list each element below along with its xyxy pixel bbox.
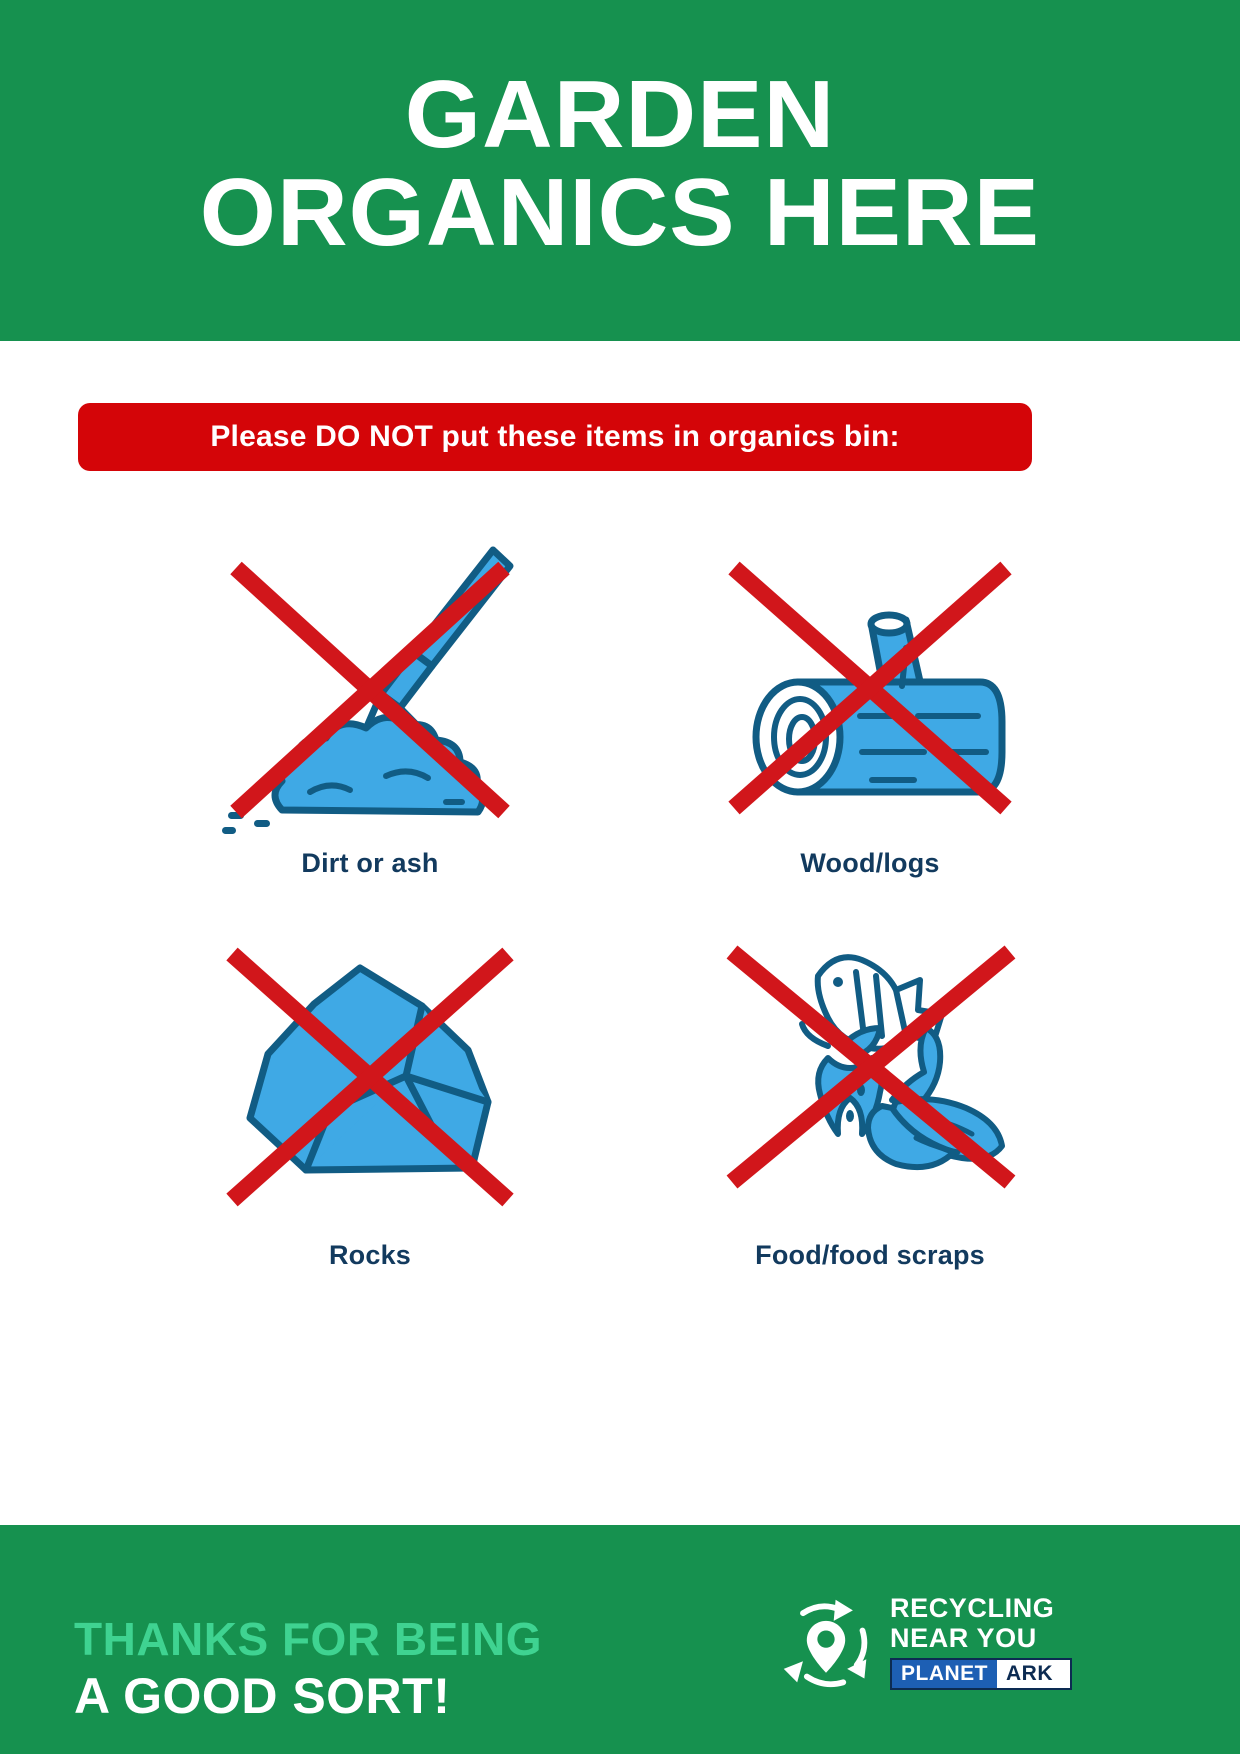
do-not-notice-banner: Please DO NOT put these items in organic… <box>78 403 1032 471</box>
item-label-wood-logs: Wood/logs <box>800 848 939 879</box>
planet-ark-badge-planet: PLANET <box>892 1660 997 1688</box>
grid-cell-dirt-or-ash: Dirt or ash <box>120 540 620 920</box>
footer-slogan-line-1: THANKS FOR BEING <box>74 1615 714 1665</box>
grid-cell-rocks: Rocks <box>120 932 620 1312</box>
grid-cell-wood-logs: Wood/logs <box>620 540 1120 920</box>
footer-slogan-line-2: A GOOD SORT! <box>74 1669 714 1723</box>
poster-title-line-2: ORGANICS HERE <box>200 164 1040 262</box>
planet-ark-badge: PLANET ARK <box>890 1658 1072 1690</box>
logo-text-block: RECYCLING NEAR YOU PLANET ARK <box>890 1594 1072 1689</box>
recycling-location-pin-icon <box>778 1594 874 1690</box>
planet-ark-badge-ark: ARK <box>997 1660 1070 1688</box>
footer-slogan: THANKS FOR BEING A GOOD SORT! <box>74 1615 714 1723</box>
logo-line-recycling: RECYCLING <box>890 1594 1072 1623</box>
poster-title-line-1: GARDEN <box>405 66 835 164</box>
poster-canvas: GARDEN ORGANICS HERE Please DO NOT put t… <box>0 0 1240 1754</box>
recycling-near-you-logo[interactable]: RECYCLING NEAR YOU PLANET ARK <box>778 1582 1178 1702</box>
logo-line-near-you: NEAR YOU <box>890 1624 1072 1653</box>
grid-cell-food-scraps: Food/food scraps <box>620 932 1120 1312</box>
do-not-notice-text: Please DO NOT put these items in organic… <box>210 420 899 454</box>
item-label-rocks: Rocks <box>329 1240 411 1271</box>
header-band: GARDEN ORGANICS HERE <box>0 0 1240 341</box>
shovel-dirt-pile-icon <box>210 540 530 840</box>
item-label-dirt-or-ash: Dirt or ash <box>301 848 438 879</box>
rocks-icon <box>210 932 530 1232</box>
food-scraps-icon <box>710 932 1030 1232</box>
prohibited-items-grid: Dirt or ash <box>120 540 1120 1312</box>
item-label-food-scraps: Food/food scraps <box>755 1240 985 1271</box>
wood-log-icon <box>710 540 1030 840</box>
